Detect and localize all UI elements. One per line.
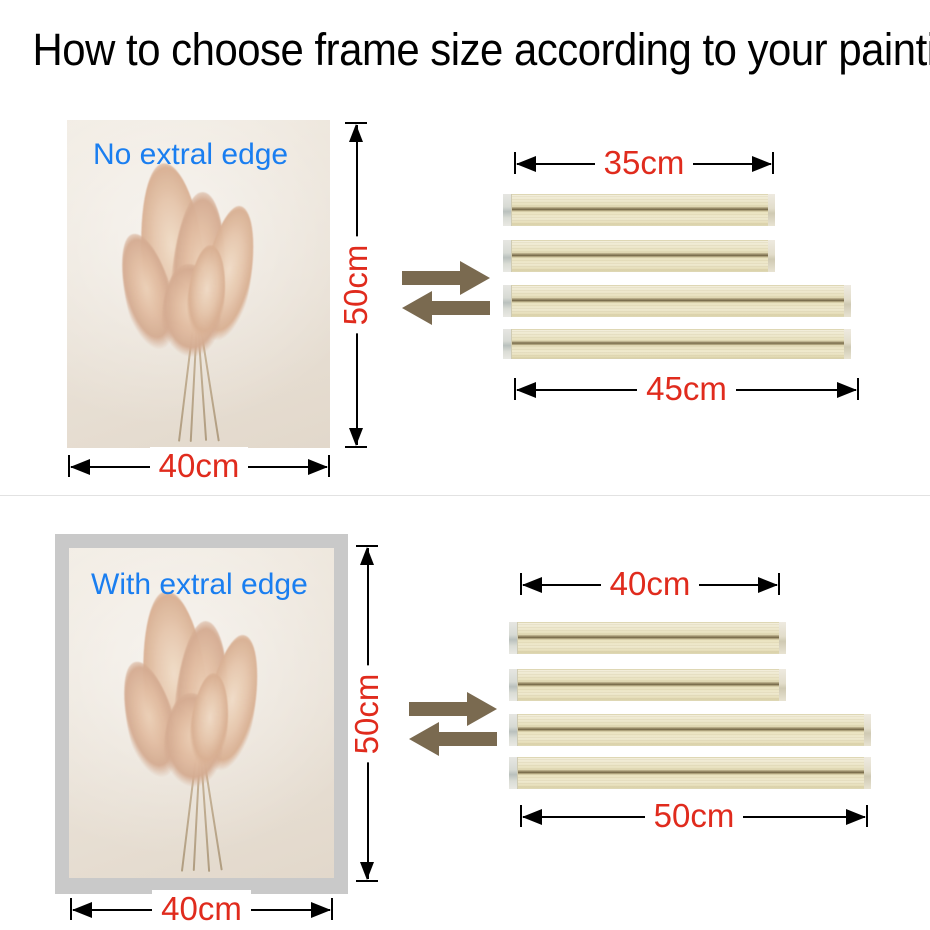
bar-end-cap-left [509,714,518,746]
frame-bar-short [503,194,775,226]
dimension-painting-height-2: 50cm [356,545,378,882]
bar-body [509,669,786,701]
bar-body [509,622,786,654]
bar-end-cap-right [844,329,851,359]
bar-body [509,757,871,789]
arrow-left-icon [409,722,497,756]
bar-end-cap-right [779,669,786,701]
dim-tick-bottom [356,880,378,882]
bar-body [503,240,775,272]
dim-label: 50cm [520,791,868,841]
bar-end-cap-right [864,757,871,789]
dim-tick-bottom [345,446,367,448]
dimension-bar-long-2: 50cm [520,805,868,827]
dim-arrowhead-top [360,547,374,565]
bar-body [503,194,775,226]
painting-with-extra-edge: With extral edge [55,534,348,894]
bar-body [503,329,851,359]
canvas-label-with-extra-edge: With extral edge [91,568,308,602]
bar-end-cap-left [509,622,518,654]
panel-divider [0,495,930,496]
canvas-label-no-extra-edge: No extral edge [93,138,288,172]
dim-label: 50cm [337,237,375,334]
bar-end-cap-left [509,757,518,789]
arrow-right-icon [402,261,490,295]
bar-end-cap-left [509,669,518,701]
dim-label: 50cm [348,665,386,762]
bar-end-cap-right [779,622,786,654]
bar-end-cap-right [844,285,851,317]
infographic-page: How to choose frame size according to yo… [0,0,930,930]
bar-end-cap-left [503,194,512,226]
bar-end-cap-left [503,240,512,272]
frame-bar-short [503,240,775,272]
bar-body [503,285,851,317]
dim-label: 45cm [514,364,859,414]
bar-end-cap-left [503,329,512,359]
bar-end-cap-left [503,285,512,317]
dim-label: 35cm [514,138,774,188]
bar-end-cap-right [768,240,775,272]
dim-arrowhead-bottom [349,428,363,446]
dim-label: 40cm [520,559,780,609]
dimension-painting-height-1: 50cm [345,122,367,448]
dim-arrowhead-top [349,124,363,142]
arrow-right-icon [409,692,497,726]
arrow-left-icon [402,291,490,325]
bar-body [509,714,871,746]
exchange-arrows-1 [398,255,494,331]
dim-arrowhead-bottom [360,862,374,880]
dimension-bar-short-2: 40cm [520,573,780,595]
dimension-bar-long-1: 45cm [514,378,859,400]
dimension-painting-width-2: 40cm [70,898,333,920]
painting-no-extra-edge: No extral edge [67,120,330,448]
exchange-arrows-2 [405,686,501,762]
frame-bar-short [509,622,786,654]
frame-bar-long [509,714,871,746]
frame-bar-long [509,757,871,789]
frame-bar-short [509,669,786,701]
dimension-bar-short-1: 35cm [514,152,774,174]
dim-label: 40cm [70,884,333,930]
dim-label: 40cm [68,441,330,491]
page-title: How to choose frame size according to yo… [33,24,898,76]
frame-bar-long [503,285,851,317]
frame-bar-long [503,329,851,359]
dimension-painting-width-1: 40cm [68,455,330,477]
bar-end-cap-right [768,194,775,226]
bar-end-cap-right [864,714,871,746]
